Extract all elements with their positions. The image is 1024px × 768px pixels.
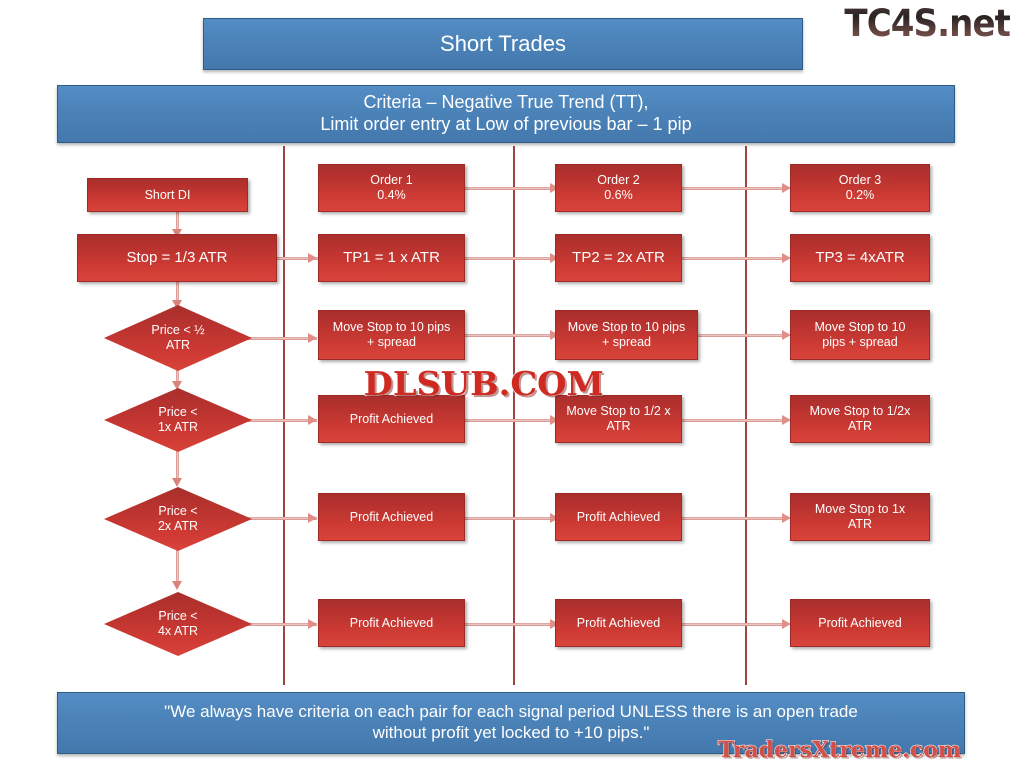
short-di-box[interactable]: Short DI — [87, 178, 248, 212]
slide-canvas: TC4S.net Short Trades Criteria – Negativ… — [0, 0, 1024, 768]
connector-decision3-row3 — [245, 517, 317, 520]
column-rule-1 — [283, 146, 285, 685]
order-3-box[interactable]: Order 3 0.2% — [790, 164, 930, 212]
decision-2x-atr-line-1: Price < — [119, 504, 237, 519]
arrow-stop-tp1 — [308, 253, 317, 263]
order-1-box[interactable]: Order 1 0.4% — [318, 164, 465, 212]
row-1x-atr-col3-box[interactable]: Move Stop to 1/2x ATR — [790, 395, 930, 443]
order-3-line-2: 0.2% — [839, 188, 881, 203]
connector-tp1-tp2 — [464, 257, 554, 260]
row-half-atr-col3-box[interactable]: Move Stop to 10 pips + spread — [790, 310, 930, 360]
row-4x-atr-col3-box[interactable]: Profit Achieved — [790, 599, 930, 647]
row-2x-atr-col2-line-1: Profit Achieved — [577, 510, 660, 525]
row-1x-atr-col3-line-2: ATR — [810, 419, 911, 434]
criteria-banner: Criteria – Negative True Trend (TT), Lim… — [57, 85, 955, 143]
row-half-atr-col3-line-1: Move Stop to 10 — [814, 320, 905, 335]
column-rule-3 — [745, 146, 747, 685]
decision-2x-atr[interactable]: Price < 2x ATR — [104, 487, 252, 551]
arrow-decision2-decision3 — [172, 478, 182, 487]
decision-1x-atr-line-1: Price < — [119, 405, 237, 420]
connector-row3-c1-c2 — [464, 517, 554, 520]
order-2-box[interactable]: Order 2 0.6% — [555, 164, 682, 212]
decision-4x-atr-line-2: 4x ATR — [119, 624, 237, 639]
row-half-atr-col3-line-2: pips + spread — [814, 335, 905, 350]
arrow-decision1-row1 — [308, 333, 317, 343]
short-di-label: Short DI — [145, 188, 191, 203]
title-banner-text: Short Trades — [440, 31, 566, 58]
tp3-label: TP3 = 4xATR — [815, 249, 904, 267]
row-4x-atr-col2-line-1: Profit Achieved — [577, 616, 660, 631]
connector-row1-c2-c3 — [697, 334, 785, 337]
arrow-decision2-row2 — [308, 415, 317, 425]
connector-row2-c1-c2 — [464, 419, 554, 422]
decision-4x-atr-line-1: Price < — [119, 609, 237, 624]
row-2x-atr-col3-line-2: ATR — [815, 517, 905, 532]
row-half-atr-col1-line-1: Move Stop to 10 pips — [333, 320, 450, 335]
order-2-line-2: 0.6% — [597, 188, 639, 203]
row-2x-atr-col2-box[interactable]: Profit Achieved — [555, 493, 682, 541]
row-4x-atr-col1-line-1: Profit Achieved — [350, 616, 433, 631]
tc4s-logo: TC4S.net — [844, 2, 1010, 45]
tp2-box[interactable]: TP2 = 2x ATR — [555, 234, 682, 282]
row-4x-atr-col2-box[interactable]: Profit Achieved — [555, 599, 682, 647]
tp1-box[interactable]: TP1 = 1 x ATR — [318, 234, 465, 282]
row-half-atr-col1-line-2: + spread — [333, 335, 450, 350]
connector-row2-c2-c3 — [681, 419, 785, 422]
connector-row3-c2-c3 — [681, 517, 785, 520]
tradersxtreme-watermark: TradersXtreme.com — [718, 737, 961, 763]
tp1-label: TP1 = 1 x ATR — [343, 249, 440, 267]
row-1x-atr-col2-line-2: ATR — [566, 419, 670, 434]
row-2x-atr-col3-line-1: Move Stop to 1x — [815, 502, 905, 517]
row-1x-atr-col3-line-1: Move Stop to 1/2x — [810, 404, 911, 419]
decision-half-atr-line-2: ATR — [119, 338, 237, 353]
row-half-atr-col2-line-1: Move Stop to 10 pips — [568, 320, 685, 335]
decision-1x-atr-line-2: 1x ATR — [119, 420, 237, 435]
column-rule-2 — [513, 146, 515, 685]
row-2x-atr-col1-box[interactable]: Profit Achieved — [318, 493, 465, 541]
row-2x-atr-col3-box[interactable]: Move Stop to 1x ATR — [790, 493, 930, 541]
order-3-line-1: Order 3 — [839, 173, 881, 188]
connector-order1-order2 — [464, 187, 554, 190]
row-1x-atr-col2-line-1: Move Stop to 1/2 x — [566, 404, 670, 419]
connector-row4-c2-c3 — [681, 623, 785, 626]
row-half-atr-col2-box[interactable]: Move Stop to 10 pips + spread — [555, 310, 698, 360]
title-banner: Short Trades — [203, 18, 803, 70]
connector-tp2-tp3 — [681, 257, 785, 260]
connector-row4-c1-c2 — [464, 623, 554, 626]
criteria-line-2: Limit order entry at Low of previous bar… — [320, 114, 691, 136]
connector-decision2-row2 — [245, 419, 317, 422]
stop-box[interactable]: Stop = 1/3 ATR — [77, 234, 277, 282]
row-half-atr-col1-box[interactable]: Move Stop to 10 pips + spread — [318, 310, 465, 360]
connector-decision1-row1 — [245, 337, 317, 340]
tp3-box[interactable]: TP3 = 4xATR — [790, 234, 930, 282]
row-1x-atr-col1-line-1: Profit Achieved — [350, 412, 433, 427]
connector-decision4-row4 — [245, 623, 317, 626]
order-1-line-1: Order 1 — [370, 173, 412, 188]
decision-4x-atr[interactable]: Price < 4x ATR — [104, 592, 252, 656]
order-1-line-2: 0.4% — [370, 188, 412, 203]
tp2-label: TP2 = 2x ATR — [572, 249, 665, 267]
decision-1x-atr[interactable]: Price < 1x ATR — [104, 388, 252, 452]
decision-half-atr[interactable]: Price < ½ ATR — [104, 305, 252, 371]
arrow-decision4-row4 — [308, 619, 317, 629]
decision-2x-atr-line-2: 2x ATR — [119, 519, 237, 534]
dlsub-watermark: DLSUB.COM — [364, 364, 604, 403]
connector-row1-c1-c2 — [464, 334, 554, 337]
row-half-atr-col2-line-2: + spread — [568, 335, 685, 350]
row-2x-atr-col1-line-1: Profit Achieved — [350, 510, 433, 525]
footer-line-1: "We always have criteria on each pair fo… — [164, 702, 858, 723]
arrow-decision3-row3 — [308, 513, 317, 523]
connector-order2-order3 — [681, 187, 785, 190]
arrow-decision3-decision4 — [172, 581, 182, 590]
criteria-line-1: Criteria – Negative True Trend (TT), — [320, 92, 691, 114]
order-2-line-1: Order 2 — [597, 173, 639, 188]
stop-label: Stop = 1/3 ATR — [126, 249, 227, 267]
row-4x-atr-col1-box[interactable]: Profit Achieved — [318, 599, 465, 647]
decision-half-atr-line-1: Price < ½ — [119, 323, 237, 338]
row-4x-atr-col3-line-1: Profit Achieved — [818, 616, 901, 631]
